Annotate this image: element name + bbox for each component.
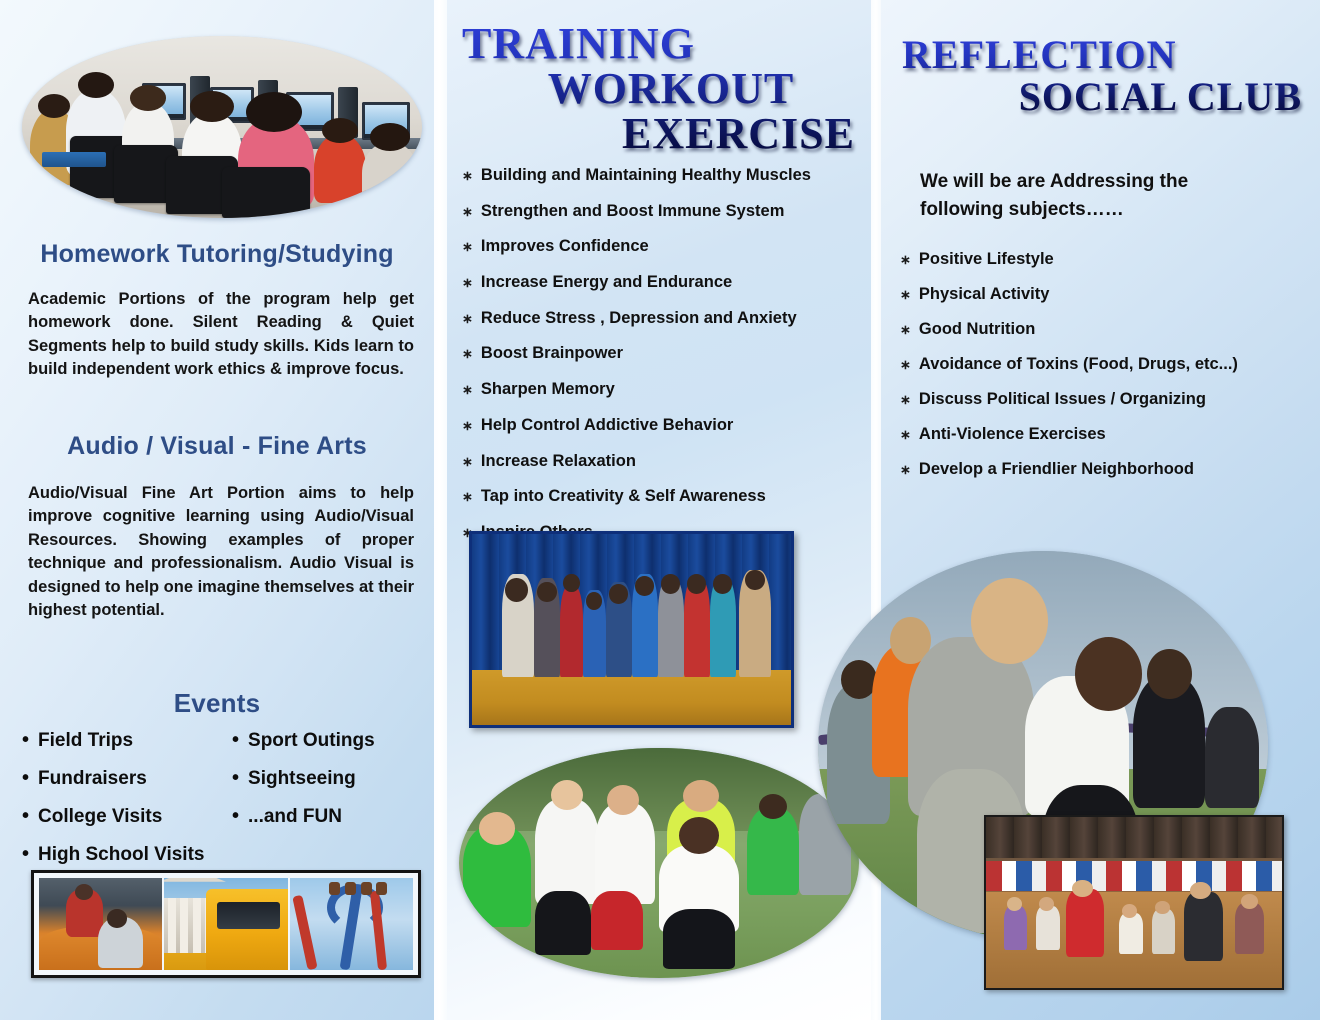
- bullet-dot-icon: •: [22, 768, 29, 788]
- asterisk-bullet-icon: ∗: [900, 358, 911, 371]
- list-item-label: Positive Lifestyle: [919, 250, 1054, 269]
- list-item: ∗ Positive Lifestyle: [900, 250, 1310, 269]
- bullet-dot-icon: •: [22, 806, 29, 826]
- list-item: ∗ Help Control Addictive Behavior: [462, 416, 872, 435]
- list-item-label: Field Trips: [38, 730, 133, 752]
- list-item-label: High School Visits: [38, 844, 204, 866]
- list-item-label: Building and Maintaining Healthy Muscles: [481, 166, 811, 185]
- asterisk-bullet-icon: ∗: [462, 276, 473, 289]
- bullet-dot-icon: •: [232, 730, 239, 750]
- list-item: ∗ Discuss Political Issues / Organizing: [900, 390, 1310, 409]
- asterisk-bullet-icon: ∗: [900, 393, 911, 406]
- list-item: ∗ Develop a Friendlier Neighborhood: [900, 460, 1310, 479]
- asterisk-bullet-icon: ∗: [462, 347, 473, 360]
- asterisk-bullet-icon: ∗: [462, 490, 473, 503]
- asterisk-bullet-icon: ∗: [462, 383, 473, 396]
- group-awards-stage-photo: [469, 531, 794, 728]
- list-item: ∗ Strengthen and Boost Immune System: [462, 202, 872, 221]
- list-item: ∗ Boost Brainpower: [462, 344, 872, 363]
- list-item-label: College Visits: [38, 806, 162, 828]
- list-item: ∗ Reduce Stress , Depression and Anxiety: [462, 309, 872, 328]
- list-item-label: Improves Confidence: [481, 237, 649, 256]
- list-item-label: Anti-Violence Exercises: [919, 425, 1106, 444]
- training-benefits-list: ∗ Building and Maintaining Healthy Muscl…: [462, 166, 872, 559]
- asterisk-bullet-icon: ∗: [462, 169, 473, 182]
- brochure-page: Homework Tutoring/Studying Academic Port…: [0, 0, 1320, 1020]
- bullet-dot-icon: •: [232, 806, 239, 826]
- asterisk-bullet-icon: ∗: [900, 428, 911, 441]
- list-item: ∗ Anti-Violence Exercises: [900, 425, 1310, 444]
- asterisk-bullet-icon: ∗: [462, 455, 473, 468]
- list-item-label: Physical Activity: [919, 285, 1050, 304]
- events-photo-strip: [31, 870, 421, 978]
- list-item: ∗ Sharpen Memory: [462, 380, 872, 399]
- list-item: • Sightseeing: [232, 768, 427, 790]
- audio-visual-paragraph: Audio/Visual Fine Art Portion aims to he…: [28, 482, 414, 623]
- training-title-line-3: EXERCISE: [447, 112, 855, 157]
- list-item: • Fundraisers: [22, 768, 232, 790]
- reflection-title-line-2: SOCIAL CLUB: [890, 76, 1310, 118]
- panel-divider-left: [434, 0, 447, 1020]
- list-item: ∗ Physical Activity: [900, 285, 1310, 304]
- list-item: ∗ Increase Relaxation: [462, 452, 872, 471]
- asterisk-bullet-icon: ∗: [462, 205, 473, 218]
- list-item-label: Good Nutrition: [919, 320, 1035, 339]
- list-item-label: ...and FUN: [248, 806, 342, 828]
- list-item: ∗ Tap into Creativity & Self Awareness: [462, 487, 872, 506]
- training-title-line-1: TRAINING: [447, 22, 855, 67]
- list-item-label: Sport Outings: [248, 730, 375, 752]
- asterisk-bullet-icon: ∗: [462, 240, 473, 253]
- list-item-label: Boost Brainpower: [481, 344, 623, 363]
- homework-title: Homework Tutoring/Studying: [0, 240, 434, 269]
- homework-paragraph: Academic Portions of the program help ge…: [28, 288, 414, 382]
- asterisk-bullet-icon: ∗: [900, 463, 911, 476]
- list-item: • High School Visits: [22, 844, 232, 866]
- asterisk-bullet-icon: ∗: [900, 323, 911, 336]
- list-item-label: Avoidance of Toxins (Food, Drugs, etc...…: [919, 355, 1238, 374]
- list-item-label: Increase Energy and Endurance: [481, 273, 732, 292]
- asterisk-bullet-icon: ∗: [900, 253, 911, 266]
- list-item: ∗ Building and Maintaining Healthy Muscl…: [462, 166, 872, 185]
- list-item: • Sport Outings: [232, 730, 427, 752]
- list-item: ∗ Avoidance of Toxins (Food, Drugs, etc.…: [900, 355, 1310, 374]
- asterisk-bullet-icon: ∗: [462, 419, 473, 432]
- audio-visual-title: Audio / Visual - Fine Arts: [0, 432, 434, 461]
- events-lists: • Field Trips • Fundraisers • College Vi…: [22, 730, 432, 882]
- dining-photo: [39, 878, 162, 970]
- list-item-label: Strengthen and Boost Immune System: [481, 202, 784, 221]
- asterisk-bullet-icon: ∗: [462, 312, 473, 325]
- computer-lab-photo: [22, 36, 422, 218]
- events-column-one: • Field Trips • Fundraisers • College Vi…: [22, 730, 232, 882]
- bullet-dot-icon: •: [22, 730, 29, 750]
- events-title: Events: [0, 688, 434, 719]
- reflection-intro: We will be are Addressing the following …: [920, 168, 1270, 223]
- outdoor-sports-photo: [459, 748, 859, 978]
- reflection-title-line-1: REFLECTION: [890, 34, 1310, 76]
- events-column-two: • Sport Outings • Sightseeing • ...and F…: [232, 730, 427, 882]
- list-item-label: Sightseeing: [248, 768, 356, 790]
- list-item-label: Discuss Political Issues / Organizing: [919, 390, 1206, 409]
- list-item: • Field Trips: [22, 730, 232, 752]
- list-item-label: Develop a Friendlier Neighborhood: [919, 460, 1194, 479]
- gym-stretching-photo: [984, 815, 1284, 990]
- list-item-label: Tap into Creativity & Self Awareness: [481, 487, 766, 506]
- reflection-title: REFLECTION SOCIAL CLUB: [890, 34, 1310, 117]
- list-item-label: Increase Relaxation: [481, 452, 636, 471]
- roller-coaster-photo: [290, 878, 413, 970]
- list-item-label: Sharpen Memory: [481, 380, 615, 399]
- bullet-dot-icon: •: [232, 768, 239, 788]
- training-title-line-2: WORKOUT: [447, 67, 855, 112]
- list-item: ∗ Increase Energy and Endurance: [462, 273, 872, 292]
- list-item-label: Fundraisers: [38, 768, 147, 790]
- bullet-dot-icon: •: [22, 844, 29, 864]
- list-item: • College Visits: [22, 806, 232, 828]
- reflection-subjects-list: ∗ Positive Lifestyle ∗ Physical Activity…: [900, 250, 1310, 495]
- training-title: TRAINING WORKOUT EXERCISE: [447, 22, 867, 157]
- museum-school-bus-photo: [164, 878, 287, 970]
- asterisk-bullet-icon: ∗: [900, 288, 911, 301]
- list-item-label: Reduce Stress , Depression and Anxiety: [481, 309, 797, 328]
- list-item: ∗ Good Nutrition: [900, 320, 1310, 339]
- list-item: ∗ Improves Confidence: [462, 237, 872, 256]
- list-item: • ...and FUN: [232, 806, 427, 828]
- list-item-label: Help Control Addictive Behavior: [481, 416, 733, 435]
